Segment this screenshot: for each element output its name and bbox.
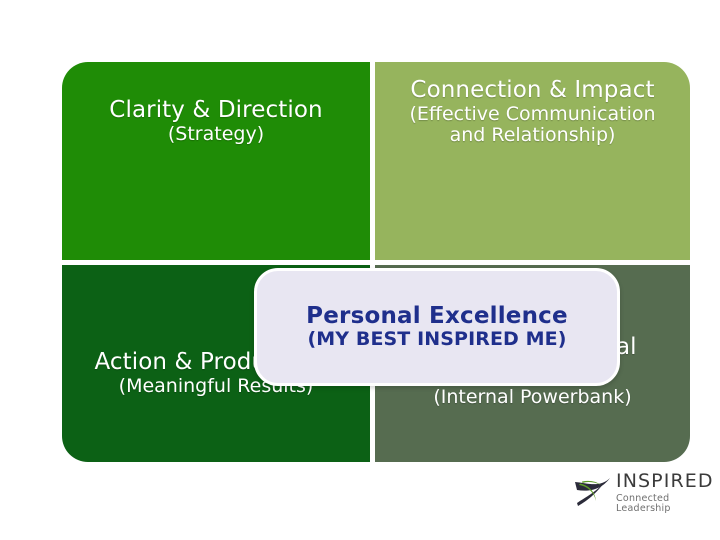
quadrant-title: Connection & Impact — [410, 78, 654, 104]
inspired-logo: INSPIRED Connected Leadership — [572, 470, 714, 515]
quadrant-subtitle-line-2: and Relationship) — [450, 125, 616, 147]
personal-excellence-matrix: Clarity & Direction (Strategy) Connectio… — [62, 62, 690, 462]
quadrant-title: Clarity & Direction — [109, 98, 322, 124]
slide-canvas: Clarity & Direction (Strategy) Connectio… — [0, 0, 720, 540]
quadrant-clarity-and-direction[interactable]: Clarity & Direction (Strategy) — [62, 62, 370, 260]
logo-tagline: Connected Leadership — [616, 494, 714, 513]
center-callout-personal-excellence[interactable]: Personal Excellence (MY BEST INSPIRED ME… — [254, 268, 620, 386]
inspired-swoosh-icon — [572, 475, 614, 511]
quadrant-subtitle-line-1: (Effective Communication — [409, 104, 655, 126]
quadrant-subtitle: (Internal Powerbank) — [433, 387, 631, 409]
center-title: Personal Excellence — [306, 303, 568, 329]
logo-wordmark: INSPIRED — [616, 472, 714, 491]
quadrant-subtitle: (Strategy) — [168, 124, 264, 146]
center-subtitle: (MY BEST INSPIRED ME) — [308, 329, 567, 351]
logo-text-block: INSPIRED Connected Leadership — [616, 472, 714, 513]
quadrant-connection-and-impact[interactable]: Connection & Impact (Effective Communica… — [375, 62, 690, 260]
